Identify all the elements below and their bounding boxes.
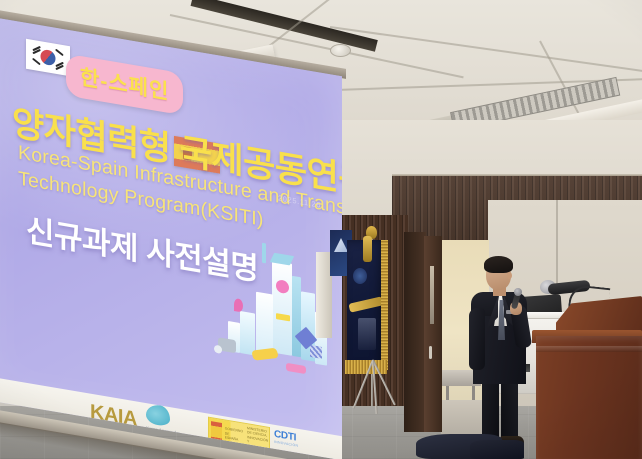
- cdti-logo: CDTI INNOVACIÓN: [274, 429, 298, 448]
- slide-canvas: 한-스페인 양자협력형 국제공동연구 Korea-Spain Infrastru…: [0, 15, 342, 459]
- banner-fringe-side: [381, 240, 388, 370]
- ceiling-speaker: [330, 44, 351, 57]
- lectern-trim: [536, 346, 642, 352]
- presenter-leg: [501, 380, 518, 442]
- gobierno-ministry-line: MINISTERIO DE CIENCIA, INNOVACIÓN Y UNIV…: [247, 426, 269, 453]
- presenter-leg: [482, 380, 499, 442]
- spain-coat-of-arms: [211, 421, 222, 443]
- presenter-hair: [484, 256, 513, 273]
- door-vision-panel: [430, 266, 434, 324]
- conference-room-photo: 한-스페인 양자협력형 국제공동연구 Korea-Spain Infrastru…: [0, 0, 642, 459]
- jacket-on-floor-fold: [470, 440, 524, 459]
- kaia-wave-mark: [146, 403, 170, 427]
- microphone-grille: [514, 288, 522, 296]
- banner-emblem: [353, 268, 367, 284]
- banner-tassel: [363, 236, 372, 262]
- badge-label: 한-스페인: [80, 66, 169, 104]
- door-handle[interactable]: [429, 346, 432, 359]
- presenter-ear: [507, 272, 512, 279]
- wooden-lectern: [536, 336, 642, 459]
- banner-lettering: [358, 318, 376, 350]
- gobierno-line2: DE ESPAÑA: [225, 431, 243, 443]
- presenter-arm: [469, 308, 485, 370]
- projection-screen: 한-스페인 양자협력형 국제공동연구 Korea-Spain Infrastru…: [0, 6, 346, 459]
- door-frame: [404, 232, 426, 432]
